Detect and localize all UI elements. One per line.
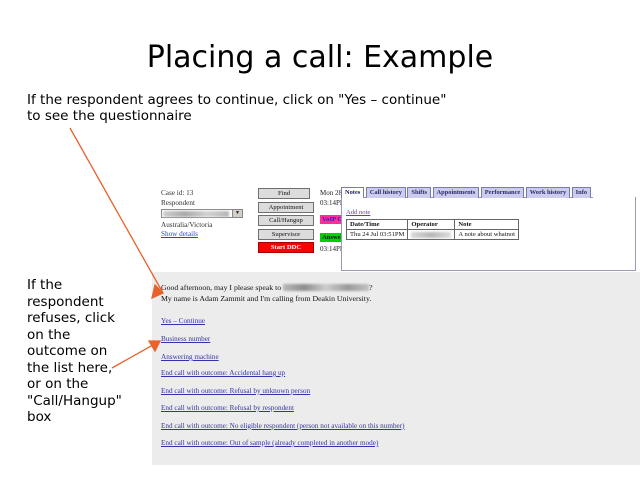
find-button[interactable]: Find xyxy=(258,188,310,199)
column-header-note: Note xyxy=(455,220,519,230)
start-ddc-button[interactable]: Start DDC xyxy=(258,242,314,253)
add-note-link[interactable]: Add note xyxy=(346,209,370,216)
page-title: Placing a call: Example xyxy=(0,40,640,75)
tab-call-history[interactable]: Call history xyxy=(366,187,406,198)
outcome-no-eligible-respondent[interactable]: End call with outcome: No eligible respo… xyxy=(161,422,631,430)
call-script: Good afternoon, may I please speak to ? … xyxy=(161,282,631,304)
option-business-number[interactable]: Business number xyxy=(161,335,210,343)
cell-operator xyxy=(408,230,455,240)
show-details-link[interactable]: Show details xyxy=(161,230,253,240)
respondent-value-redacted xyxy=(163,211,229,217)
tab-appointments[interactable]: Appointments xyxy=(433,187,480,198)
tab-work-history[interactable]: Work history xyxy=(526,187,570,198)
outcome-out-of-sample[interactable]: End call with outcome: Out of sample (al… xyxy=(161,439,631,447)
column-header-operator: Operator xyxy=(408,220,455,230)
cell-note: A note about whatnot xyxy=(455,230,519,240)
tab-performance[interactable]: Performance xyxy=(481,187,524,198)
appointment-button[interactable]: Appointment xyxy=(258,202,314,213)
respondent-name-redacted xyxy=(283,284,369,291)
chevron-down-icon[interactable]: ▼ xyxy=(232,210,242,217)
cell-datetime: Thu 24 Jul 03:51PM xyxy=(347,230,408,240)
tab-filler xyxy=(593,187,635,198)
table-header-row: Date/Time Operator Note xyxy=(347,220,519,230)
notes-table: Date/Time Operator Note Thu 24 Jul 03:51… xyxy=(346,219,519,240)
tab-bar: Notes Call history Shifts Appointments P… xyxy=(341,187,636,198)
script-line-2: My name is Adam Zammit and I'm calling f… xyxy=(161,293,631,304)
case-info-column: Case id: 13 Respondent ▼ Australia/Victo… xyxy=(161,189,253,240)
outcome-refusal-respondent[interactable]: End call with outcome: Refusal by respon… xyxy=(161,404,631,412)
tabs-panel: Notes Call history Shifts Appointments P… xyxy=(341,187,636,271)
script-greeting: Good afternoon, may I please speak to xyxy=(161,283,281,292)
table-row: Thu 24 Jul 03:51PM A note about whatnot xyxy=(347,230,519,240)
outcome-accidental-hang-up[interactable]: End call with outcome: Accidental hang u… xyxy=(161,369,631,377)
timezone-label: Australia/Victoria xyxy=(161,220,253,230)
action-button-column: Find Appointment Call/Hangup Supervisor … xyxy=(258,188,310,256)
column-header-datetime: Date/Time xyxy=(347,220,408,230)
script-line-1: Good afternoon, may I please speak to ? xyxy=(161,282,631,293)
callout-left-text: If the respondent refuses, click on the … xyxy=(27,277,123,426)
call-hangup-button[interactable]: Call/Hangup xyxy=(258,215,314,226)
case-id-label: Case id: 13 xyxy=(161,189,253,199)
outcome-link-list: End call with outcome: Accidental hang u… xyxy=(161,369,631,457)
option-yes-continue[interactable]: Yes – Continue xyxy=(161,317,205,325)
tab-info[interactable]: Info xyxy=(572,187,591,198)
arrow-top-to-script xyxy=(70,128,163,298)
respondent-label: Respondent xyxy=(161,199,253,209)
script-question-mark: ? xyxy=(369,283,372,292)
option-answering-machine[interactable]: Answering machine xyxy=(161,353,219,361)
operator-redacted xyxy=(411,232,451,238)
outcome-refusal-unknown-person[interactable]: End call with outcome: Refusal by unknow… xyxy=(161,387,631,395)
respondent-select[interactable]: ▼ xyxy=(161,209,243,218)
tab-shifts[interactable]: Shifts xyxy=(407,187,431,198)
slide-canvas: Placing a call: Example If the responden… xyxy=(0,0,640,480)
supervisor-button[interactable]: Supervisor xyxy=(258,229,314,240)
callout-top-text: If the respondent agrees to continue, cl… xyxy=(27,92,457,124)
tab-notes[interactable]: Notes xyxy=(341,187,364,198)
arrow-line-1 xyxy=(70,128,163,293)
embedded-app-screenshot: Case id: 13 Respondent ▼ Australia/Victo… xyxy=(152,184,640,465)
notes-tab-body: Add note Date/Time Operator Note Thu 24 … xyxy=(341,197,636,271)
